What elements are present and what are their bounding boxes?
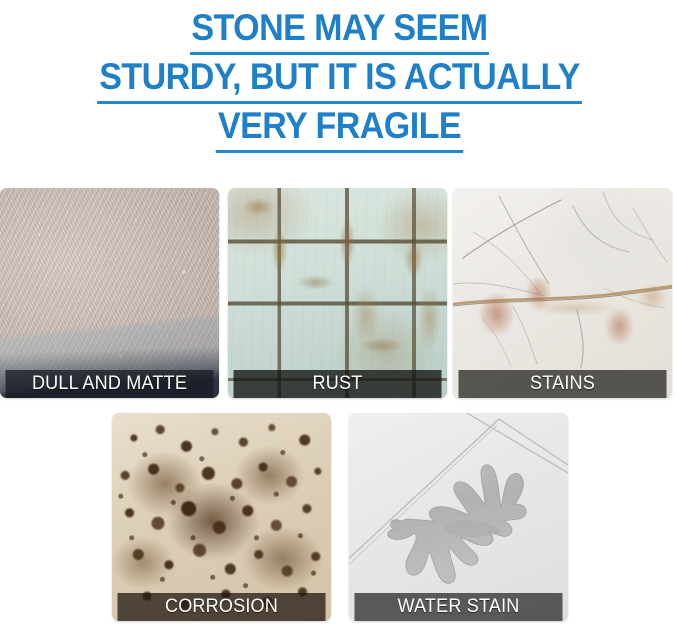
- corrosion-photo: [112, 413, 331, 621]
- headline-line-3: VERY FRAGILE: [27, 104, 652, 153]
- headline-line-2-text: STURDY, BUT IT IS ACTUALLY: [97, 55, 581, 104]
- headline-line-1-text: STONE MAY SEEM: [190, 6, 490, 55]
- water-stain-photo: [349, 413, 568, 621]
- caption-water-stain: WATER STAIN: [354, 593, 562, 621]
- headline-line-1: STONE MAY SEEM: [27, 6, 652, 55]
- tile-dull-and-matte[interactable]: DULL AND MATTE: [0, 188, 219, 398]
- tile-water-stain[interactable]: WATER STAIN: [349, 413, 568, 621]
- rust-drip-texture: [228, 188, 447, 398]
- headline-line-2: STURDY, BUT IT IS ACTUALLY: [27, 55, 652, 104]
- caption-stains: STAINS: [458, 370, 666, 398]
- water-splash-shape: [349, 413, 568, 621]
- caption-dull-and-matte: DULL AND MATTE: [5, 370, 213, 398]
- dull-and-matte-photo: [0, 188, 219, 398]
- caption-corrosion: CORROSION: [117, 593, 325, 621]
- rust-photo: [228, 188, 447, 398]
- rust-stain-blots: [453, 188, 672, 398]
- stains-photo: [453, 188, 672, 398]
- caption-rust: RUST: [233, 370, 441, 398]
- tile-stains[interactable]: STAINS: [453, 188, 672, 398]
- headline-block: STONE MAY SEEM STURDY, BUT IT IS ACTUALL…: [0, 0, 679, 153]
- headline-line-3-text: VERY FRAGILE: [216, 104, 463, 153]
- tile-corrosion[interactable]: CORROSION: [112, 413, 331, 621]
- tile-rust[interactable]: RUST: [228, 188, 447, 398]
- corrosion-fine-speck-layer: [112, 413, 331, 621]
